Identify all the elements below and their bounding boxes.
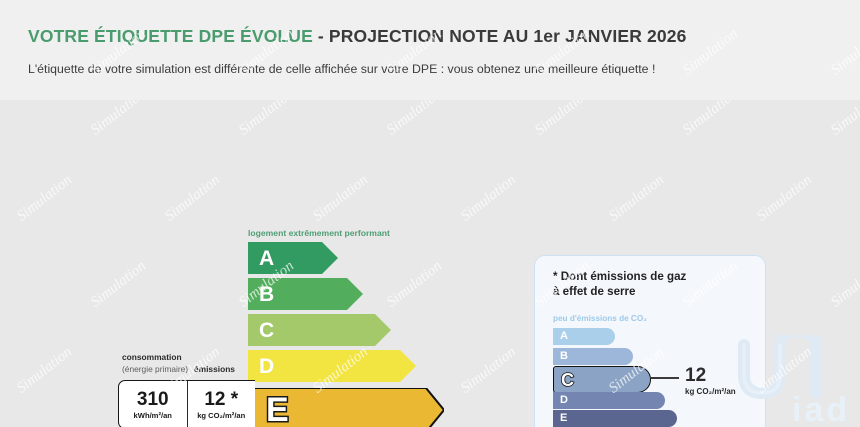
ges-value-unit: kg CO₂/m²/an xyxy=(685,387,736,396)
page-title-green: VOTRE ÉTIQUETTE DPE ÉVOLUE xyxy=(28,26,313,46)
dpe-energy-label: logement extrêmement performant ABCDEFG … xyxy=(110,228,440,427)
page-subtitle: L'étiquette de votre simulation est diff… xyxy=(28,62,655,76)
energy-bar-c: C xyxy=(248,314,391,346)
watermark-text: Simulation xyxy=(680,26,742,79)
ges-bar-letter-c: C xyxy=(561,371,574,389)
watermark-text: Simulation xyxy=(458,344,520,397)
watermark-text: Simulation xyxy=(310,172,372,225)
ges-bar-e: E xyxy=(553,410,677,427)
energy-bar-b: B xyxy=(248,278,363,310)
energy-bar-letter-d: D xyxy=(259,356,274,377)
consumption-sublabel: (énergie primaire) xyxy=(122,364,188,374)
energy-bar-e: E xyxy=(248,388,444,427)
energy-bar-a: A xyxy=(248,242,338,274)
watermark-layer-header: SimulationSimulationSimulationSimulation… xyxy=(0,0,860,100)
ges-bar-b: B xyxy=(553,348,633,365)
energy-bar-letter-b: B xyxy=(259,284,274,305)
watermark-text: Simulation xyxy=(680,100,742,139)
watermark-text: Simulation xyxy=(384,100,446,139)
emissions-value: 12 * xyxy=(204,390,238,409)
consumption-label: consommation xyxy=(122,352,182,362)
ges-panel-title: * Dont émissions de gaz à effet de serre xyxy=(553,269,686,299)
ges-bar-letter-d: D xyxy=(560,395,568,406)
ges-bar-d: D xyxy=(553,392,665,409)
ges-leader-line xyxy=(651,377,679,379)
page-title-dark: - PROJECTION NOTE AU 1er JANVIER 2026 xyxy=(313,26,687,46)
emissions-label: émissions xyxy=(194,364,235,374)
label-body-area: logement extrêmement performant ABCDEFG … xyxy=(0,100,860,427)
caption-top-performant: logement extrêmement performant xyxy=(248,228,390,238)
watermark-text: Simulation xyxy=(14,344,76,397)
watermark-text: Simulation xyxy=(0,258,2,311)
watermark-text: Simulation xyxy=(606,172,668,225)
header-band: VOTRE ÉTIQUETTE DPE ÉVOLUE - PROJECTION … xyxy=(0,0,860,100)
watermark-text: Simulation xyxy=(236,100,298,139)
watermark-text: Simulation xyxy=(828,26,860,79)
ges-panel: * Dont émissions de gaz à effet de serre… xyxy=(534,255,766,427)
emissions-unit: kg CO₂/m²/an xyxy=(197,412,245,420)
ges-bar-a: A xyxy=(553,328,615,345)
watermark-text: Simulation xyxy=(88,100,150,139)
ges-bar-letter-a: A xyxy=(560,331,568,342)
watermark-text: Simulation xyxy=(532,100,594,139)
watermark-text: Simulation xyxy=(828,258,860,311)
energy-bar-d: D xyxy=(248,350,416,382)
watermark-text: Simulation xyxy=(828,100,860,139)
ges-bar-letter-b: B xyxy=(560,351,568,362)
svg-text:iad: iad xyxy=(792,391,850,427)
watermark-text: Simulation xyxy=(754,172,816,225)
watermark-text: Simulation xyxy=(14,172,76,225)
ges-bar-letter-e: E xyxy=(560,413,567,424)
value-box: 310 kWh/m²/an 12 * kg CO₂/m²/an xyxy=(118,380,255,427)
ges-value: 12 xyxy=(685,366,706,385)
consumption-unit: kWh/m²/an xyxy=(134,412,172,420)
watermark-text: Simulation xyxy=(0,26,2,79)
watermark-text: Simulation xyxy=(458,172,520,225)
iad-logo: iad xyxy=(736,335,852,427)
page-title: VOTRE ÉTIQUETTE DPE ÉVOLUE - PROJECTION … xyxy=(28,26,687,47)
consumption-value: 310 xyxy=(137,390,169,409)
energy-bar-letter-c: C xyxy=(259,320,274,341)
screenshot-root: VOTRE ÉTIQUETTE DPE ÉVOLUE - PROJECTION … xyxy=(0,0,860,427)
energy-bar-letter-a: A xyxy=(259,248,274,269)
emissions-cell: 12 * kg CO₂/m²/an xyxy=(188,381,256,427)
ges-bar-c: C xyxy=(553,366,651,393)
energy-bar-letter-e: E xyxy=(266,393,289,427)
consumption-cell: 310 kWh/m²/an xyxy=(119,381,188,427)
watermark-text: Simulation xyxy=(0,100,2,139)
ges-note-top: peu d'émissions de CO₂ xyxy=(553,314,647,323)
watermark-text: Simulation xyxy=(162,172,224,225)
